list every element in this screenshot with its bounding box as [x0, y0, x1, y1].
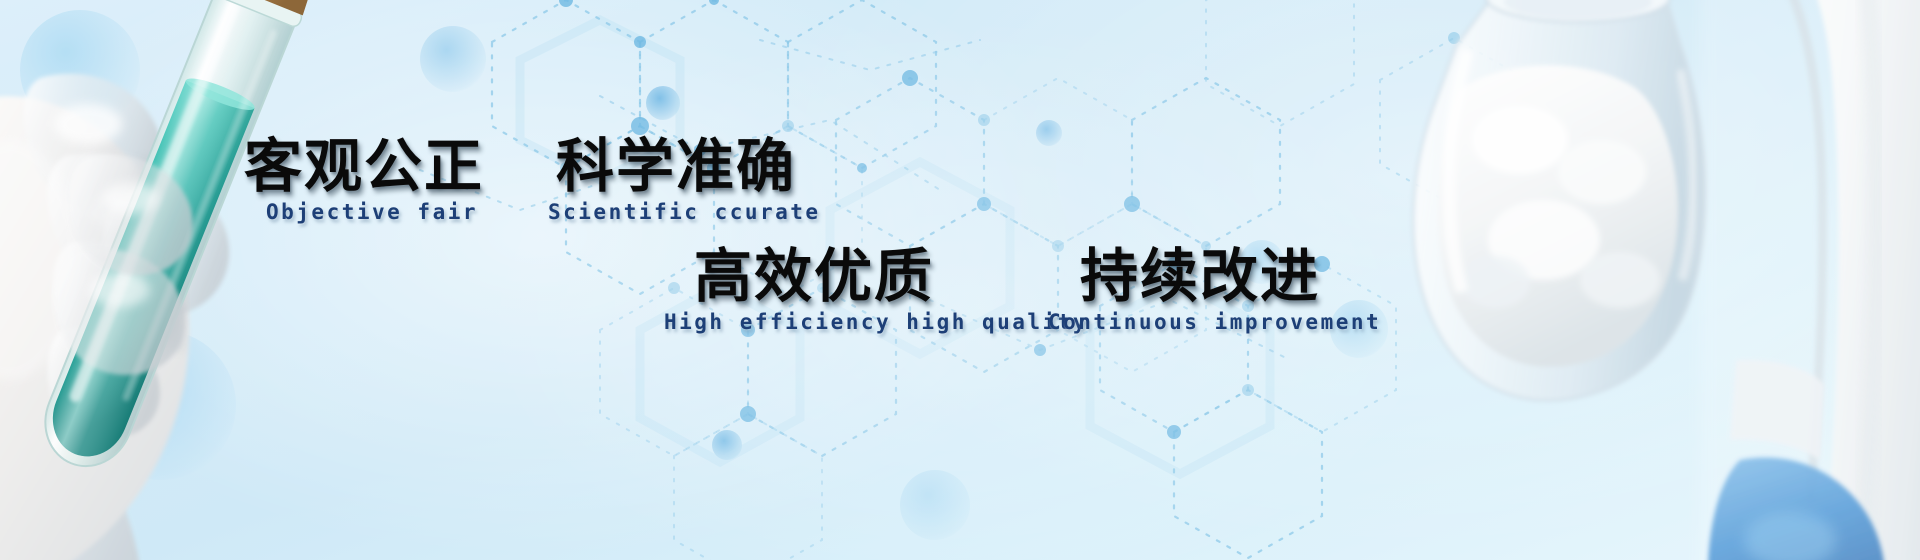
slogan-continuous-improvement-cn: 持续改进 [1080, 248, 1320, 306]
slogan-text-layer: 客观公正 Objective fair 科学准确 Scientific ccur… [0, 0, 1920, 560]
slogan-objective-fair-en: Objective fair [266, 200, 478, 224]
slogan-continuous-improvement-en: Continuous improvement [1048, 310, 1381, 334]
lab-quality-banner: .hx { fill:none; stroke:#8ac7e8; stroke-… [0, 0, 1920, 560]
slogan-high-efficiency-quality-cn: 高效优质 [694, 248, 934, 306]
slogan-scientific-accurate-cn: 科学准确 [556, 138, 796, 196]
slogan-high-efficiency-quality-en: High efficiency high quality [664, 310, 1088, 334]
slogan-scientific-accurate-en: Scientific ccurate [548, 200, 821, 224]
slogan-objective-fair-cn: 客观公正 [244, 138, 484, 196]
